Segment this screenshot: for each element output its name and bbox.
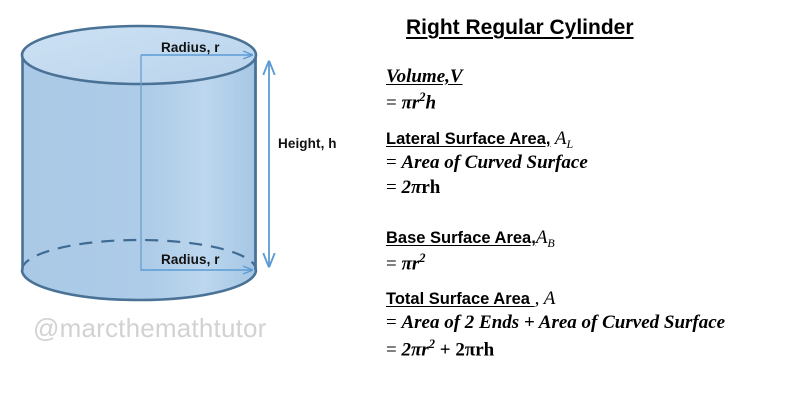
formula-heading-subscript: B [547, 236, 554, 250]
equation-tail: rh [421, 177, 440, 198]
equation-superscript: 2 [419, 251, 425, 265]
formula-heading-symbol: , A [535, 288, 556, 309]
equals-sign: = [386, 339, 397, 360]
equals-sign: = [386, 253, 397, 274]
equation-expression: 2π [401, 177, 421, 198]
formula-heading-text: Total Surface Area [386, 290, 535, 308]
equation-expression: πr [401, 92, 419, 113]
formula-heading-base: Base Surface Area,AB [386, 227, 555, 250]
formula-heading-total: Total Surface Area , A [386, 288, 725, 311]
formula-equation-line: = Area of 2 Ends + Area of Curved Surfac… [386, 311, 725, 336]
radius-label-bottom: Radius, r [161, 252, 220, 267]
cylinder-illustration [0, 0, 370, 406]
formula-heading-text: Lateral Surface Area, [386, 130, 550, 148]
formula-equation-line: = 2πr2 + 2πrh [386, 336, 725, 361]
formula-panel: Right Regular Cylinder Volume,V = πr2h L… [378, 0, 804, 406]
cylinder-body [22, 55, 256, 300]
watermark: @marcthemathtutor [33, 313, 267, 344]
formula-heading-symbol: A [555, 128, 567, 149]
formula-block-lateral-surface-area: Lateral Surface Area, AL = Area of Curve… [386, 128, 588, 201]
equation-expression: Area of 2 Ends + Area of Curved Surface [401, 312, 725, 333]
equation-tail: + 2πrh [435, 339, 494, 360]
formula-heading-symbol: A [536, 227, 548, 248]
equation-expression: 2πr [401, 339, 428, 360]
formula-heading-lateral: Lateral Surface Area, AL [386, 128, 588, 151]
equals-sign: = [386, 152, 397, 173]
formula-heading-subscript: L [567, 137, 574, 151]
formula-heading-text: Volume, [386, 66, 450, 87]
equals-sign: = [386, 312, 397, 333]
formula-heading-volume: Volume,V [386, 66, 463, 89]
equation-expression: πr [401, 253, 419, 274]
formula-block-total-surface-area: Total Surface Area , A = Area of 2 Ends … [386, 288, 725, 361]
equation-expression: Area of Curved Surface [401, 152, 587, 173]
formula-heading-symbol: V [450, 66, 463, 87]
formula-equation-line: = πr2h [386, 89, 463, 114]
equals-sign: = [386, 92, 397, 113]
height-label: Height, h [278, 136, 337, 151]
formula-equation-line: = Area of Curved Surface [386, 151, 588, 176]
formula-equation-line: = πr2 [386, 250, 555, 275]
formula-block-base-surface-area: Base Surface Area,AB = πr2 [386, 227, 555, 275]
formula-block-volume: Volume,V = πr2h [386, 66, 463, 114]
formula-heading-text: Base Surface Area, [386, 229, 536, 247]
formula-equation-line: = 2πrh [386, 176, 588, 201]
page-title: Right Regular Cylinder [406, 16, 634, 40]
equals-sign: = [386, 177, 397, 198]
cylinder-diagram-panel: Radius, r Radius, r Height, h @marcthema… [0, 0, 370, 406]
radius-label-top: Radius, r [161, 40, 220, 55]
equation-tail: h [426, 92, 437, 113]
cylinder-formula-sheet: Radius, r Radius, r Height, h @marcthema… [0, 0, 804, 406]
